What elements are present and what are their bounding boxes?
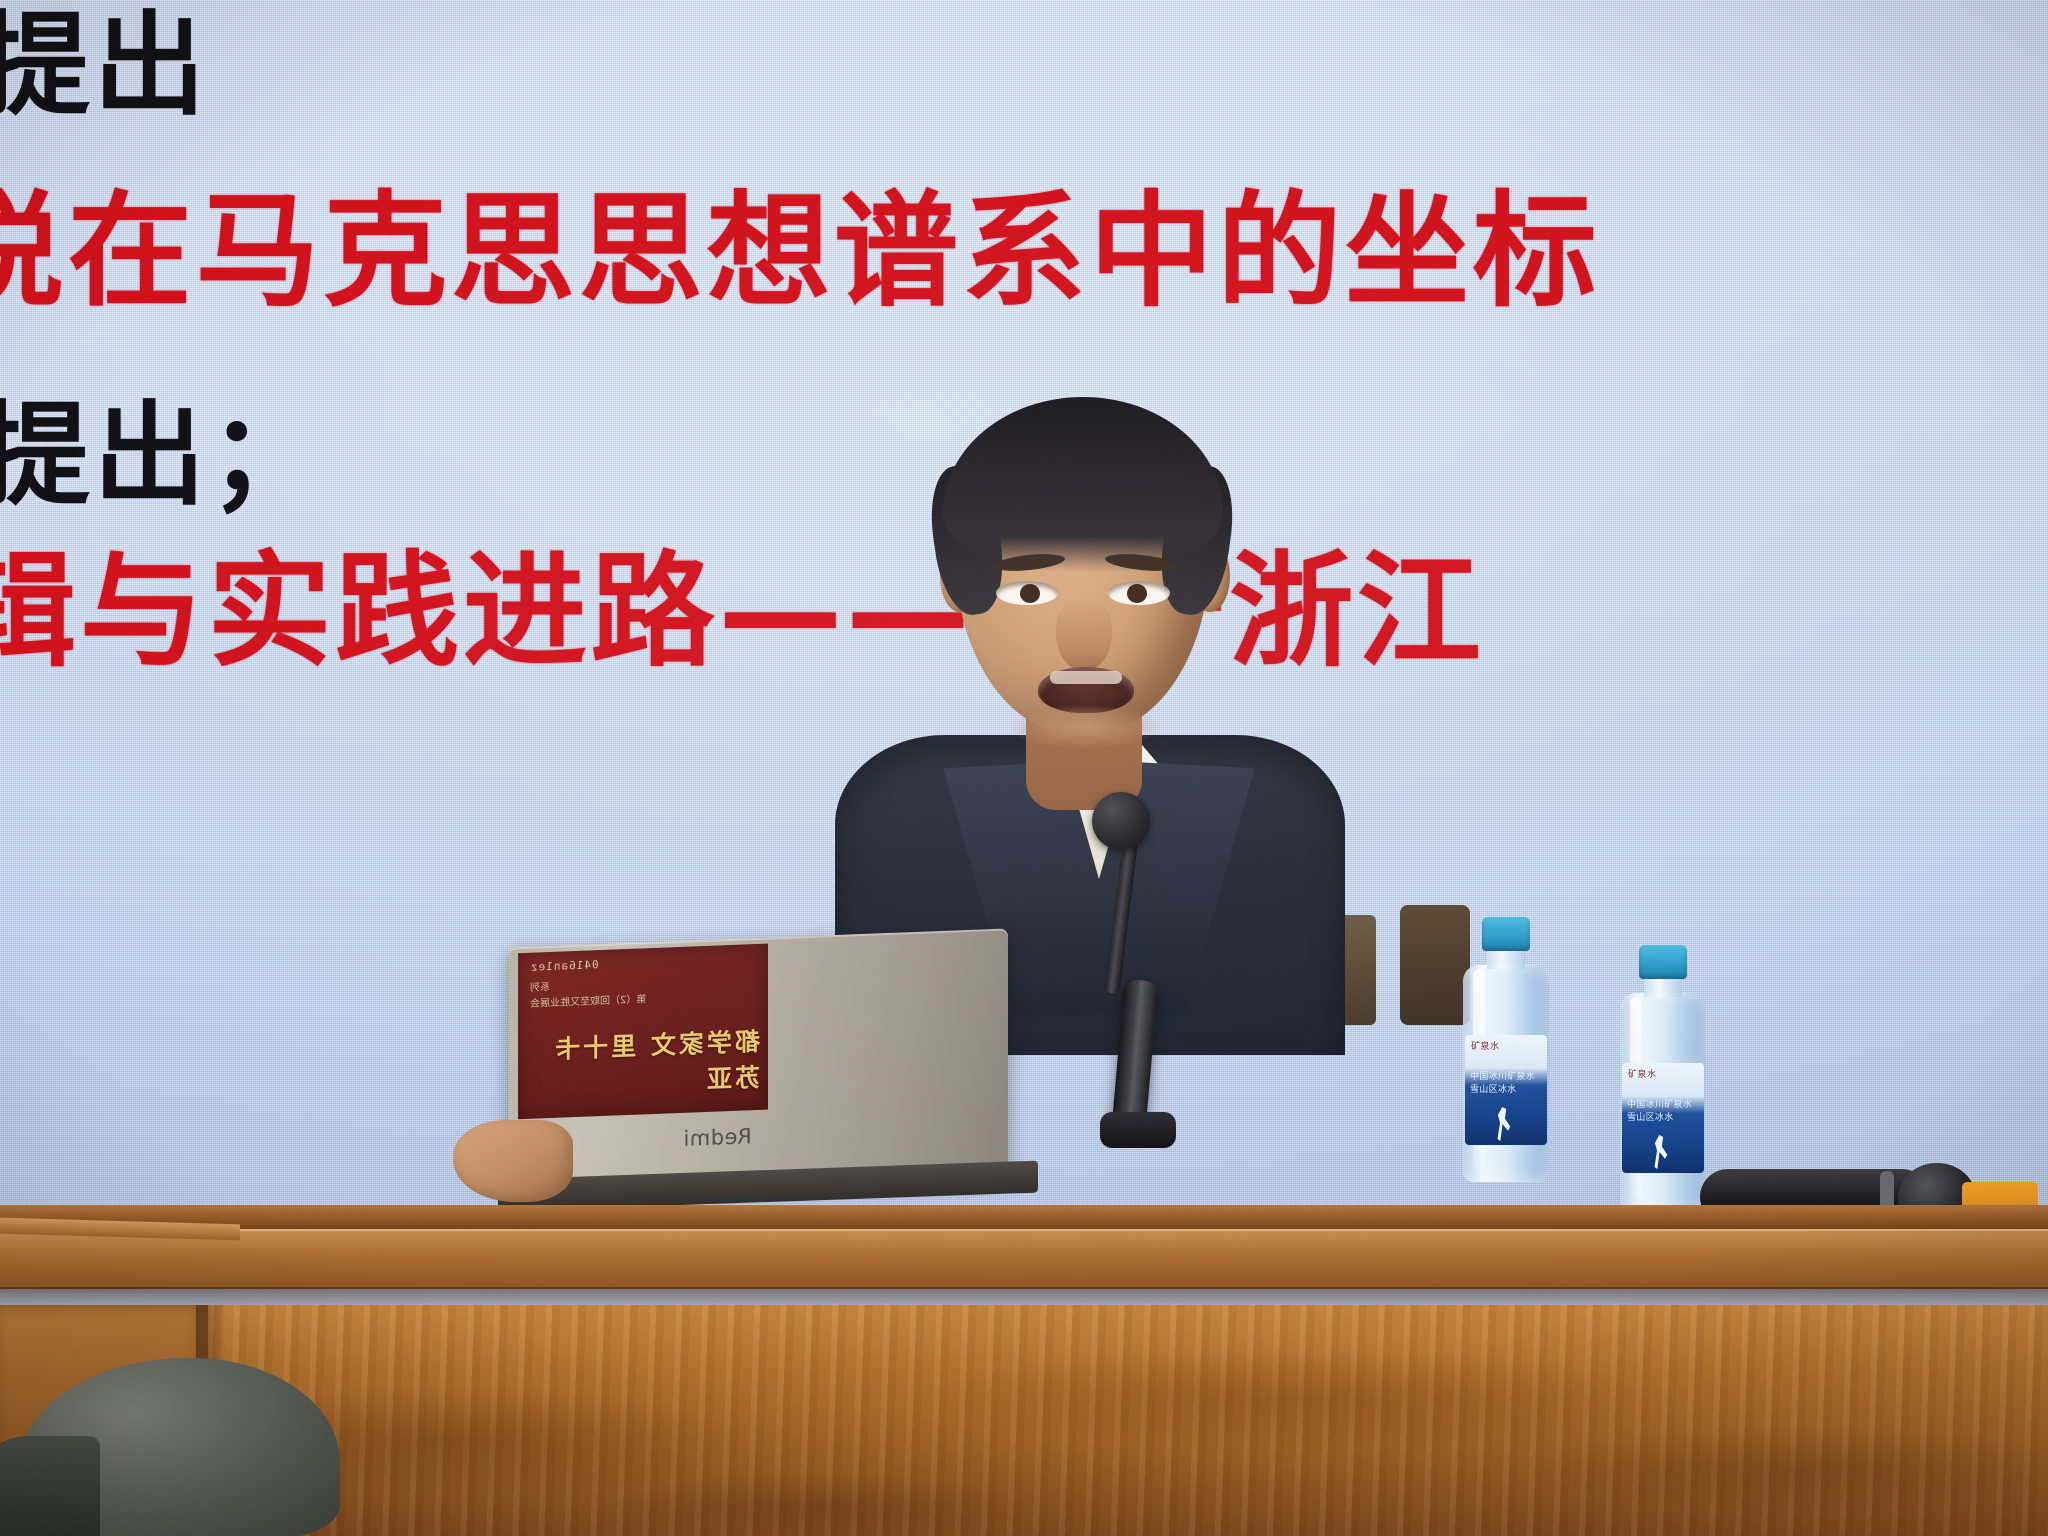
speaker-hair <box>943 397 1223 572</box>
foreground-chair <box>0 1352 390 1536</box>
slide-text-line-2: 说在马克思思想谱系中的坐标 <box>0 190 1600 314</box>
sticker-line-1: 0416an1ez <box>530 958 599 974</box>
laptop: 0416an1ez 系列 第（2）回取至又胜业展会 都学家文 里十卡苏亚 Red… <box>508 938 1048 1218</box>
teeth <box>1050 671 1122 684</box>
eye-right <box>1108 581 1170 605</box>
bottle-label-top-text: 矿泉水 <box>1628 1069 1698 1081</box>
gooseneck-microphone <box>1030 790 1250 1210</box>
laptop-lid-sticker: 0416an1ez 系列 第（2）回取至又胜业展会 都学家文 里十卡苏亚 <box>518 944 768 1120</box>
water-bottle-2: 矿泉水 中国冰川矿泉水 雪山区冰水 <box>1620 945 1706 1210</box>
bottle-label-body-text: 中国冰川矿泉水 雪山区冰水 <box>1627 1099 1699 1124</box>
pupil-left <box>1020 584 1040 603</box>
water-bottle-1: 矿泉水 中国冰川矿泉水 雪山区冰水 <box>1463 917 1549 1182</box>
bottle-cap <box>1639 945 1687 979</box>
slide-text-line-3: 提出； <box>0 400 324 512</box>
laptop-lid: 0416an1ez 系列 第（2）回取至又胜业展会 都学家文 里十卡苏亚 Red… <box>508 928 1008 1195</box>
chair-armrest <box>0 1436 100 1536</box>
bottle-cap <box>1482 917 1530 951</box>
microphone-gooseneck <box>1104 834 1138 995</box>
pupil-right <box>1127 584 1147 603</box>
slide-text-line-1: 提出 <box>0 10 209 122</box>
background-chair-right <box>1400 905 1470 1025</box>
bottle-label: 矿泉水 中国冰川矿泉水 雪山区冰水 <box>1622 1063 1704 1173</box>
bottle-label-top-text: 矿泉水 <box>1471 1041 1541 1053</box>
nose <box>1056 597 1112 671</box>
speaker-hand <box>453 1120 573 1202</box>
skier-icon <box>1652 1135 1670 1169</box>
laptop-brand-logo: Redmi <box>683 1124 752 1151</box>
sticker-line-2: 系列 <box>530 978 550 994</box>
sticker-headline: 都学家文 里十卡苏亚 <box>532 1022 760 1103</box>
photo-scene: 提出 说在马克思思想谱系中的坐标 提出； 辑与实践进路——基于浙江 <box>0 0 2048 1536</box>
microphone-capsule <box>1092 792 1150 850</box>
sticker-line-3: 第（2）回取至又胜业展会 <box>530 990 646 1009</box>
bottle-label-body-text: 中国冰川矿泉水 雪山区冰水 <box>1470 1071 1542 1096</box>
desk-top-edge <box>0 1205 2048 1231</box>
eye-left <box>996 581 1058 605</box>
desk-top-surface <box>0 1229 2048 1289</box>
skier-icon <box>1495 1107 1513 1141</box>
bottle-label: 矿泉水 中国冰川矿泉水 雪山区冰水 <box>1465 1035 1547 1145</box>
microphone-body <box>1112 979 1159 1131</box>
chin-highlight <box>1010 705 1160 749</box>
microphone-base <box>1100 1112 1176 1148</box>
